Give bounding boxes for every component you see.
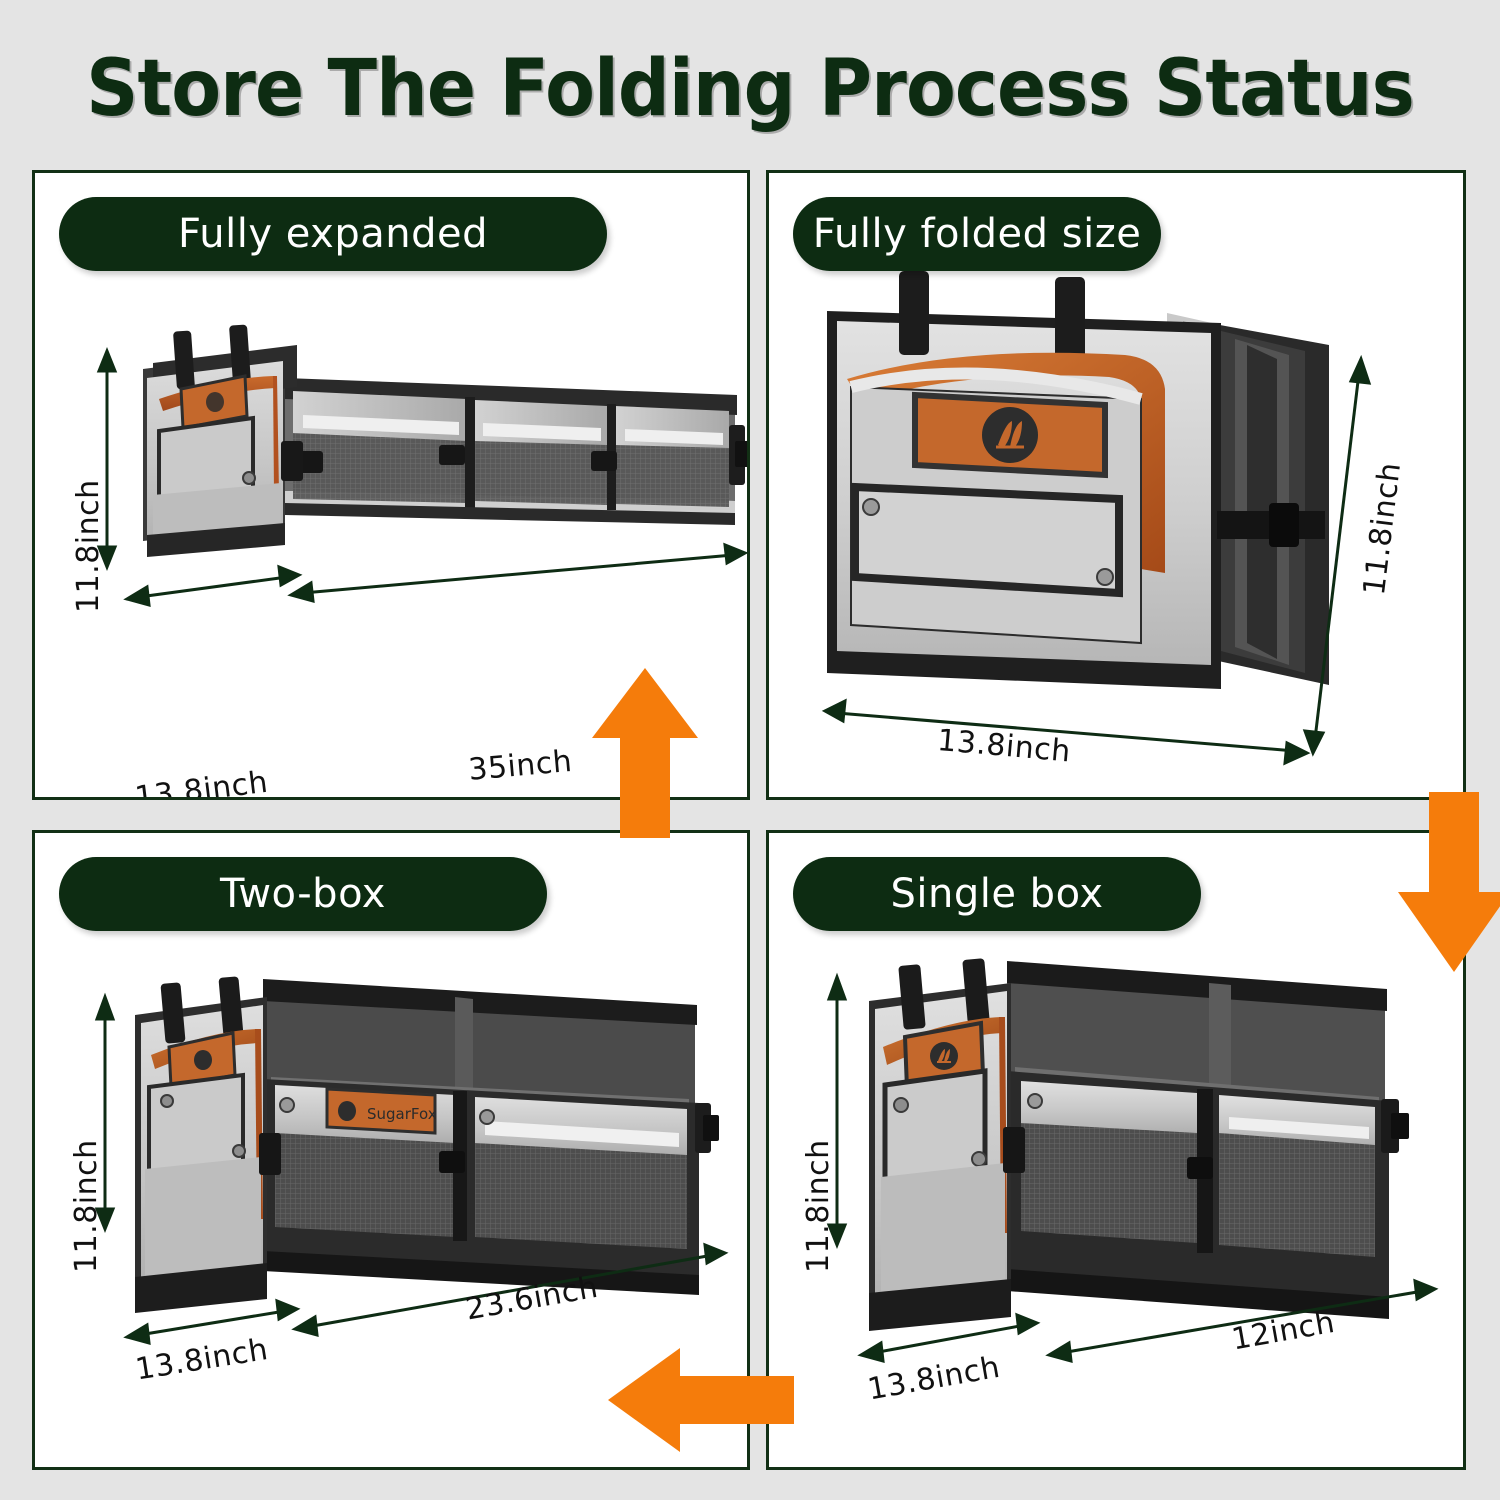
page-title: Store The Folding Process Status <box>53 44 1448 134</box>
badge-single-box[interactable]: Single box <box>793 857 1201 931</box>
arrow-up-icon <box>592 668 698 838</box>
badge-two-box[interactable]: Two-box <box>59 857 547 931</box>
arrow-down-icon <box>1398 792 1500 972</box>
dimension-label-height-expanded: 11.8inch <box>71 479 106 613</box>
badge-fully-expanded[interactable]: Fully expanded <box>59 197 607 271</box>
arrow-left-icon <box>608 1348 794 1452</box>
dimension-label-height-singlebox: 11.8inch <box>801 1139 836 1273</box>
dimension-label-height-twobox: 11.8inch <box>69 1139 104 1273</box>
infographic-page: Store The Folding Process Status <box>0 0 1500 1500</box>
badge-fully-folded[interactable]: Fully folded size <box>793 197 1161 271</box>
svg-text:SugarFox: SugarFox <box>367 1105 437 1123</box>
